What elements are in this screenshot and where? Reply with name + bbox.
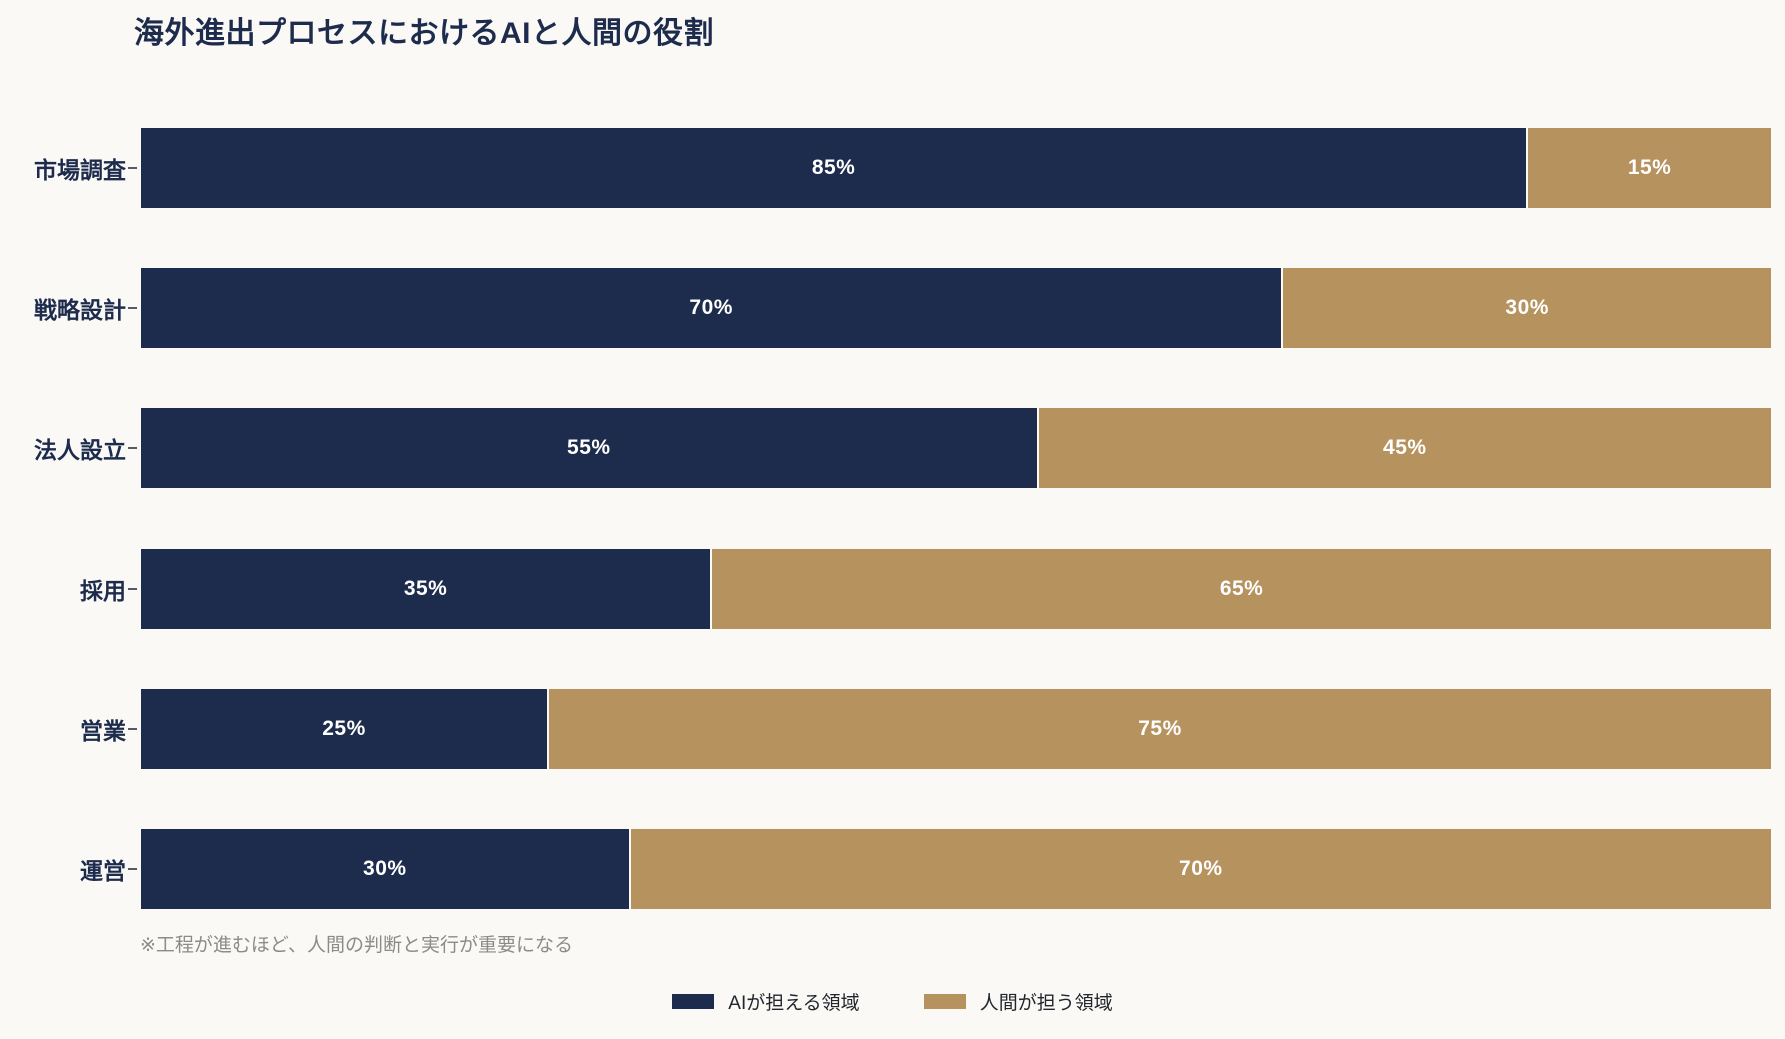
bar-segment-human[interactable]: 75% (548, 688, 1772, 770)
bar-segment-human[interactable]: 65% (711, 548, 1772, 630)
y-axis-tick-mark (128, 728, 137, 730)
y-axis-tick-label: 運営 (80, 852, 126, 886)
chart-legend: AIが担える領域人間が担う領域 (0, 988, 1785, 1015)
plot-area: 市場調査85%15%戦略設計70%30%法人設立55%45%採用35%65%営業… (140, 110, 1772, 892)
legend-swatch-icon (672, 994, 714, 1009)
chart-footnote: ※工程が進むほど、人間の判断と実行が重要になる (140, 930, 573, 957)
bar-segment-ai[interactable]: 55% (140, 407, 1038, 489)
bar-segment-ai[interactable]: 25% (140, 688, 548, 770)
bar-segment-human[interactable]: 15% (1527, 127, 1772, 209)
y-axis-tick-2: 戦略設計 (0, 267, 126, 349)
bar-segment-ai[interactable]: 35% (140, 548, 711, 630)
bar-value-label: 75% (1138, 717, 1182, 741)
bar-row: 採用35%65% (140, 548, 1772, 630)
legend-item-2[interactable]: 人間が担う領域 (924, 988, 1113, 1015)
legend-label: 人間が担う領域 (980, 988, 1113, 1015)
legend-label: AIが担える領域 (728, 988, 859, 1015)
bar-row: 法人設立55%45% (140, 407, 1772, 489)
y-axis-tick-6: 運営 (0, 828, 126, 910)
y-axis-tick-label: 戦略設計 (34, 291, 126, 325)
bar-segment-ai[interactable]: 70% (140, 267, 1282, 349)
y-axis-tick-mark (128, 307, 137, 309)
bar-value-label: 70% (1179, 857, 1223, 881)
y-axis-tick-3: 法人設立 (0, 407, 126, 489)
chart-figure: 海外進出プロセスにおけるAIと人間の役割 市場調査85%15%戦略設計70%30… (0, 0, 1785, 1039)
bar-value-label: 85% (812, 156, 856, 180)
bar-row: 戦略設計70%30% (140, 267, 1772, 349)
bar-row: 運営30%70% (140, 828, 1772, 910)
bar-segment-human[interactable]: 45% (1038, 407, 1772, 489)
bar-value-label: 70% (689, 296, 733, 320)
bar-value-label: 15% (1628, 156, 1672, 180)
y-axis-tick-4: 採用 (0, 548, 126, 630)
y-axis-tick-mark (128, 167, 137, 169)
page-title: 海外進出プロセスにおけるAIと人間の役割 (134, 8, 714, 52)
bar-row: 市場調査85%15% (140, 127, 1772, 209)
bar-segment-ai[interactable]: 85% (140, 127, 1527, 209)
y-axis-tick-label: 採用 (80, 572, 126, 606)
bar-value-label: 35% (404, 577, 448, 601)
bar-value-label: 30% (1505, 296, 1549, 320)
legend-swatch-icon (924, 994, 966, 1009)
bar-value-label: 45% (1383, 436, 1427, 460)
bar-segment-ai[interactable]: 30% (140, 828, 630, 910)
y-axis-tick-mark (128, 447, 137, 449)
bar-segment-human[interactable]: 70% (630, 828, 1772, 910)
y-axis-tick-label: 市場調査 (34, 151, 126, 185)
y-axis-tick-label: 法人設立 (34, 431, 126, 465)
y-axis-tick-mark (128, 588, 137, 590)
bar-row: 営業25%75% (140, 688, 1772, 770)
legend-item-1[interactable]: AIが担える領域 (672, 988, 859, 1015)
y-axis-tick-1: 市場調査 (0, 127, 126, 209)
bar-value-label: 30% (363, 857, 407, 881)
y-axis-tick-mark (128, 868, 137, 870)
y-axis-tick-5: 営業 (0, 688, 126, 770)
bar-segment-human[interactable]: 30% (1282, 267, 1772, 349)
y-axis-tick-label: 営業 (80, 712, 126, 746)
bar-value-label: 25% (322, 717, 366, 741)
bar-value-label: 65% (1220, 577, 1264, 601)
bar-value-label: 55% (567, 436, 611, 460)
